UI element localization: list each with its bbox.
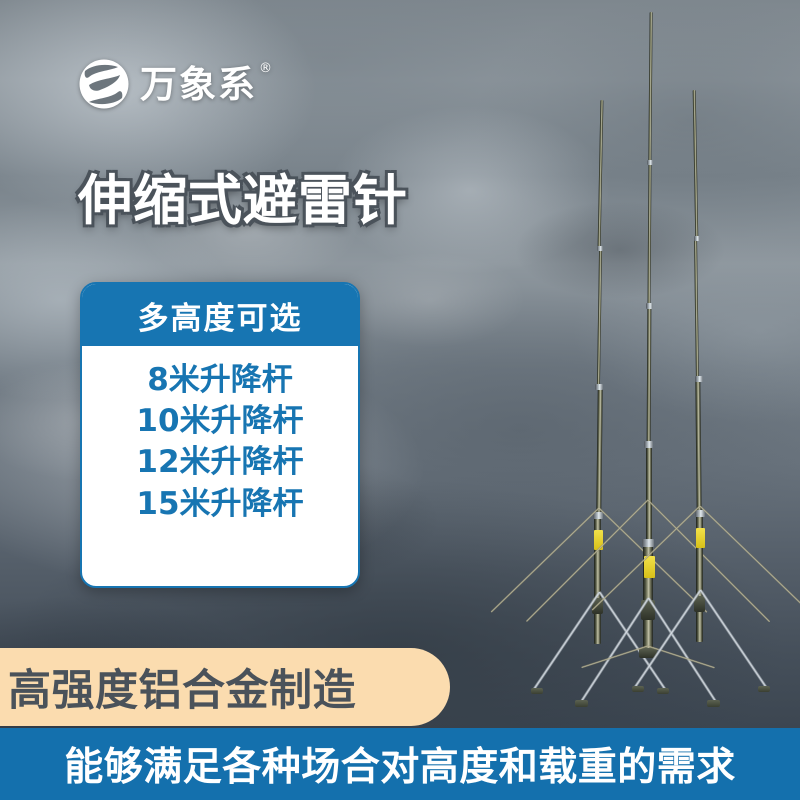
mast-right-footpad-a <box>632 686 644 692</box>
product-poster: 万象系 ® 伸缩式避雷针 多高度可选 8米升降杆 10米升降杆 12米升降杆 1… <box>0 0 800 800</box>
mast-right-shaft-mid <box>694 238 699 380</box>
list-item: 12米升降杆 <box>136 444 303 481</box>
height-options-card-header-label: 多高度可选 <box>138 293 303 338</box>
brand-name-text: 万象系 <box>140 63 257 106</box>
mast-right-shaft-top <box>693 90 698 240</box>
list-item: 15米升降杆 <box>136 486 303 523</box>
mast-right-collar-1 <box>694 236 700 241</box>
mast-right-brace-a <box>591 505 700 611</box>
mast-right-yellow-label <box>696 528 705 548</box>
swirl-sphere-logo-icon <box>78 58 130 110</box>
registered-trademark-icon: ® <box>259 62 274 75</box>
mast-right-collar-2 <box>695 376 703 382</box>
mast-right-shaft-lower <box>695 378 701 514</box>
brand-logo: 万象系 ® <box>78 58 257 110</box>
mast-right-footpad-b <box>758 686 770 692</box>
list-item: 10米升降杆 <box>136 403 303 440</box>
material-banner-label: 高强度铝合金制造 <box>8 656 356 718</box>
brand-name: 万象系 ® <box>140 66 257 103</box>
page-title: 伸缩式避雷针 <box>78 170 408 232</box>
list-item: 8米升降杆 <box>147 362 293 399</box>
height-options-list: 8米升降杆 10米升降杆 12米升降杆 15米升降杆 <box>82 346 358 533</box>
material-banner: 高强度铝合金制造 <box>0 648 450 726</box>
capability-banner-label: 能够满足各种场合对高度和载重的需求 <box>64 736 736 792</box>
mast-right-brace-b <box>699 505 800 611</box>
capability-banner: 能够满足各种场合对高度和载重的需求 <box>0 728 800 800</box>
mast-right-leg-b <box>699 589 767 688</box>
height-options-card: 多高度可选 8米升降杆 10米升降杆 12米升降杆 15米升降杆 <box>80 282 360 588</box>
mast-right-leg-a <box>633 589 701 688</box>
height-options-card-header: 多高度可选 <box>82 284 358 346</box>
